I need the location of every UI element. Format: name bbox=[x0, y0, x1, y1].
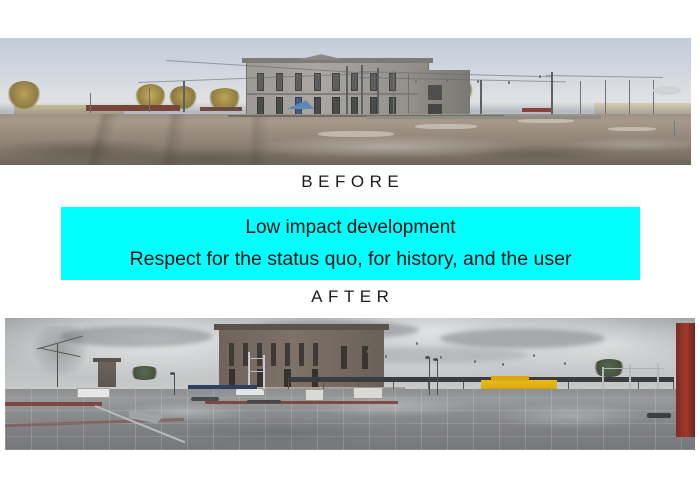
before-pole-6 bbox=[377, 68, 379, 114]
before-shed-row bbox=[86, 105, 179, 111]
before-hanging-dot-4 bbox=[508, 81, 510, 84]
before-blue-post bbox=[674, 121, 675, 136]
before-hanging-dot-3 bbox=[477, 80, 479, 83]
after-hanging-dot-4 bbox=[367, 350, 369, 353]
after-foreground-object-3 bbox=[647, 413, 671, 418]
after-mast-arm-1 bbox=[248, 358, 265, 359]
after-kiosk-1 bbox=[305, 389, 324, 400]
after-hanging-dot-2 bbox=[328, 346, 330, 349]
before-pole-3 bbox=[90, 93, 91, 113]
after-mast-arm-2 bbox=[248, 371, 265, 372]
banner-line-1: Low impact development bbox=[245, 213, 455, 243]
after-building-roof bbox=[214, 324, 390, 330]
before-pole-2 bbox=[149, 88, 150, 112]
after-red-band-center bbox=[205, 401, 398, 405]
after-hanging-dot-1 bbox=[326, 339, 328, 342]
after-photo bbox=[5, 318, 695, 450]
before-pole-9 bbox=[480, 80, 482, 114]
after-lamp-post-3 bbox=[174, 373, 175, 394]
before-rubble-1 bbox=[318, 131, 394, 137]
after-hanging-dot-5 bbox=[385, 355, 387, 358]
before-pole-12 bbox=[605, 80, 606, 114]
after-locomotive-cab bbox=[491, 376, 529, 381]
before-photo bbox=[0, 38, 691, 165]
presentation-slide: BEFORE Low impact development Respect fo… bbox=[0, 0, 700, 495]
before-label: BEFORE bbox=[0, 172, 700, 192]
before-rubble-3 bbox=[518, 119, 573, 123]
after-hanging-dot-6 bbox=[416, 342, 418, 345]
after-white-car bbox=[236, 389, 264, 394]
before-pole-14 bbox=[653, 80, 654, 114]
before-pole-8 bbox=[408, 74, 409, 115]
before-building-string-course bbox=[246, 93, 429, 95]
before-pole-13 bbox=[629, 80, 630, 114]
after-lamp-post-1 bbox=[429, 358, 430, 395]
after-foreground-object-1 bbox=[191, 397, 219, 401]
after-kiosk-2 bbox=[77, 388, 110, 398]
after-sign-board bbox=[353, 387, 383, 400]
before-shed-2 bbox=[200, 107, 241, 111]
before-hanging-dot-5 bbox=[539, 75, 541, 78]
before-shed-3 bbox=[522, 108, 553, 112]
before-satellite-dish bbox=[653, 86, 681, 95]
before-photo-content bbox=[0, 38, 691, 165]
after-photo-content bbox=[5, 318, 695, 450]
highlight-banner: Low impact development Respect for the s… bbox=[61, 207, 640, 280]
before-hanging-dot-1 bbox=[415, 80, 417, 83]
after-hanging-dot-7 bbox=[440, 356, 442, 359]
after-building-colonnade bbox=[229, 343, 318, 365]
after-red-band-left bbox=[5, 402, 102, 405]
after-lamp-head-2 bbox=[433, 358, 438, 361]
before-tree-1 bbox=[7, 81, 42, 109]
before-rubble-4 bbox=[608, 127, 656, 131]
before-pole-11 bbox=[580, 81, 581, 114]
after-hanging-dot-10 bbox=[533, 354, 535, 357]
before-pole-10 bbox=[551, 72, 553, 114]
after-shrub-3 bbox=[129, 366, 160, 381]
after-label: AFTER bbox=[0, 287, 700, 307]
after-left-tower-cap bbox=[93, 358, 121, 362]
after-lamp-post-2 bbox=[437, 359, 438, 395]
after-red-pillar bbox=[676, 323, 695, 437]
before-hanging-dot-2 bbox=[446, 79, 448, 82]
after-mast-crossbar bbox=[602, 368, 664, 369]
before-wing-window-upper bbox=[428, 85, 441, 100]
after-foreground-object-2 bbox=[247, 400, 282, 403]
after-left-tower bbox=[98, 360, 116, 386]
after-cloud-3 bbox=[440, 329, 606, 349]
before-pole-1 bbox=[183, 81, 185, 111]
after-hanging-dot-11 bbox=[564, 362, 566, 365]
after-hanging-dot-9 bbox=[502, 363, 504, 366]
banner-line-2: Respect for the status quo, for history,… bbox=[130, 243, 572, 275]
before-tyre-tracks bbox=[0, 114, 691, 165]
